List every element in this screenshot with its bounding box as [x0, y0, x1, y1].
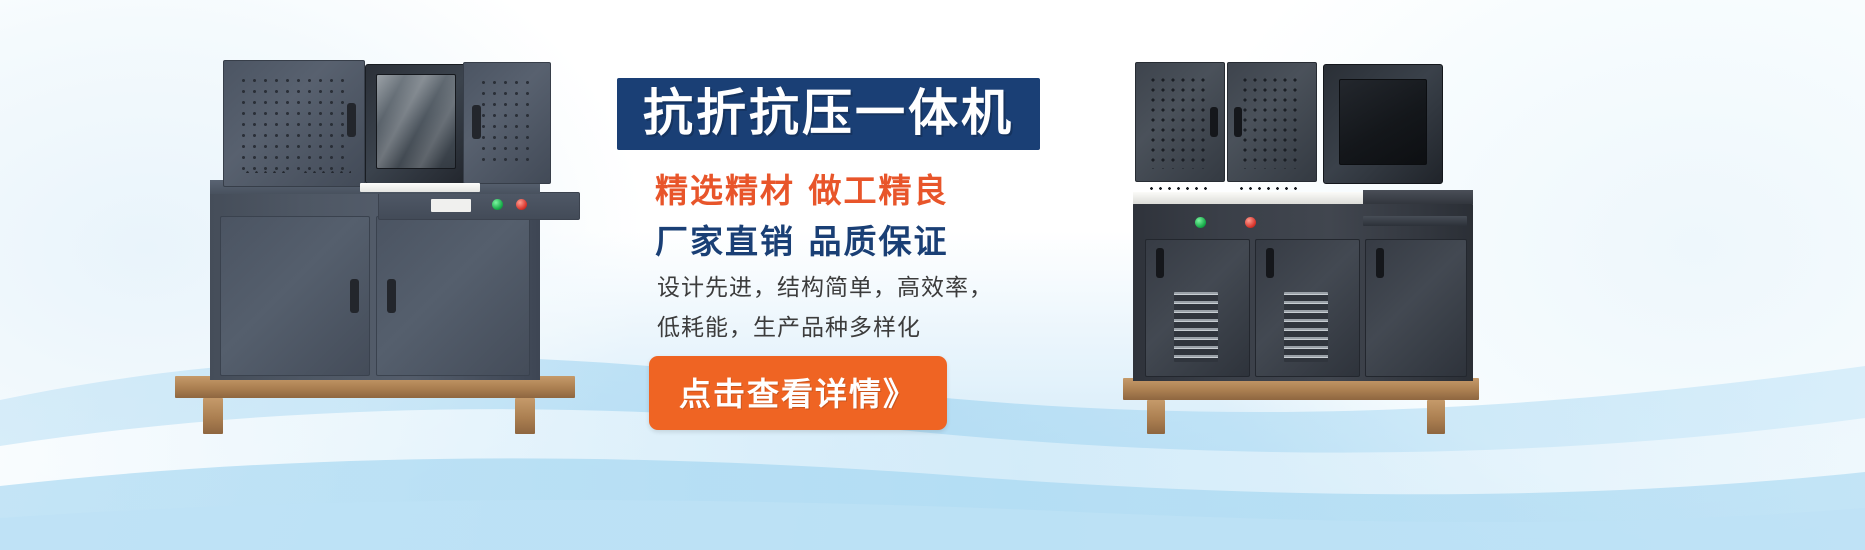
panel-label-plate: [431, 199, 471, 212]
title-banner: 抗折抗压一体机: [617, 78, 1040, 150]
body-text-line-2: 低耗能，生产品种多样化: [657, 308, 921, 342]
door-handle-icon: [1376, 248, 1384, 278]
display-window-icon: [365, 64, 467, 184]
body-text-line-1: 设计先进，结构简单，高效率，: [657, 268, 993, 302]
perforation-pattern: [478, 77, 532, 169]
page-title: 抗折抗压一体机: [643, 88, 1014, 138]
machine-body: [210, 180, 540, 380]
lower-door-right: [1365, 239, 1467, 377]
indicator-light-green: [492, 199, 503, 210]
product-image-right: [1115, 40, 1505, 430]
pallet-leg-left: [1147, 400, 1165, 434]
door-handle-icon: [1266, 248, 1274, 278]
perforation-pattern: [1240, 75, 1302, 169]
door-handle-icon: [1210, 107, 1218, 137]
view-details-label: 点击查看详情》: [679, 376, 917, 412]
white-control-strip: [360, 183, 480, 192]
machine-deck: [1363, 190, 1473, 204]
lower-door-left: [1145, 239, 1250, 377]
indicator-light-green: [1195, 217, 1206, 228]
view-details-button[interactable]: 点击查看详情》: [649, 356, 947, 430]
cabinet-door-left: [220, 216, 370, 376]
louver-vent-icon: [1174, 292, 1218, 362]
indicator-light-red: [1245, 217, 1256, 228]
subtitle-navy: 厂家直销 品质保证: [655, 215, 949, 263]
door-handle-icon: [350, 279, 359, 313]
perforation-pattern: [1148, 75, 1210, 169]
cabinet-door-right: [376, 216, 530, 376]
lower-panel-bar: [1363, 216, 1467, 226]
display-glass: [376, 74, 456, 169]
vent-holes-right: [1237, 184, 1299, 190]
vent-holes-right: [301, 168, 351, 173]
lower-door-middle: [1255, 239, 1360, 377]
door-handle-icon: [1156, 248, 1164, 278]
monitor-icon: [1323, 64, 1443, 184]
subtitle-orange: 精选精材 做工精良: [655, 164, 949, 212]
product-image-left: [155, 40, 585, 430]
wood-pallet-icon: [1123, 378, 1479, 400]
promo-banner: 抗折抗压一体机 精选精材 做工精良 厂家直销 品质保证 设计先进，结构简单，高效…: [0, 0, 1865, 550]
door-handle-icon: [347, 103, 356, 137]
perforated-cabinet-icon: [463, 62, 551, 184]
pallet-leg-right: [515, 398, 535, 434]
vent-holes-left: [1147, 184, 1209, 190]
indicator-light-red: [516, 199, 527, 210]
white-control-strip: [1133, 192, 1363, 204]
door-handle-icon: [472, 105, 481, 139]
perforated-cabinet-icon: [1135, 62, 1225, 182]
door-handle-icon: [1234, 107, 1242, 137]
monitor-screen: [1339, 79, 1427, 165]
perforation-pattern: [238, 75, 346, 172]
pallet-leg-left: [203, 398, 223, 434]
pallet-leg-right: [1427, 400, 1445, 434]
louver-vent-icon: [1284, 292, 1328, 362]
vent-holes-left: [243, 168, 287, 173]
control-panel-icon: [378, 192, 580, 220]
perforated-cabinet-icon: [1227, 62, 1317, 182]
machine-body: [1133, 203, 1473, 381]
door-handle-icon: [387, 279, 396, 313]
